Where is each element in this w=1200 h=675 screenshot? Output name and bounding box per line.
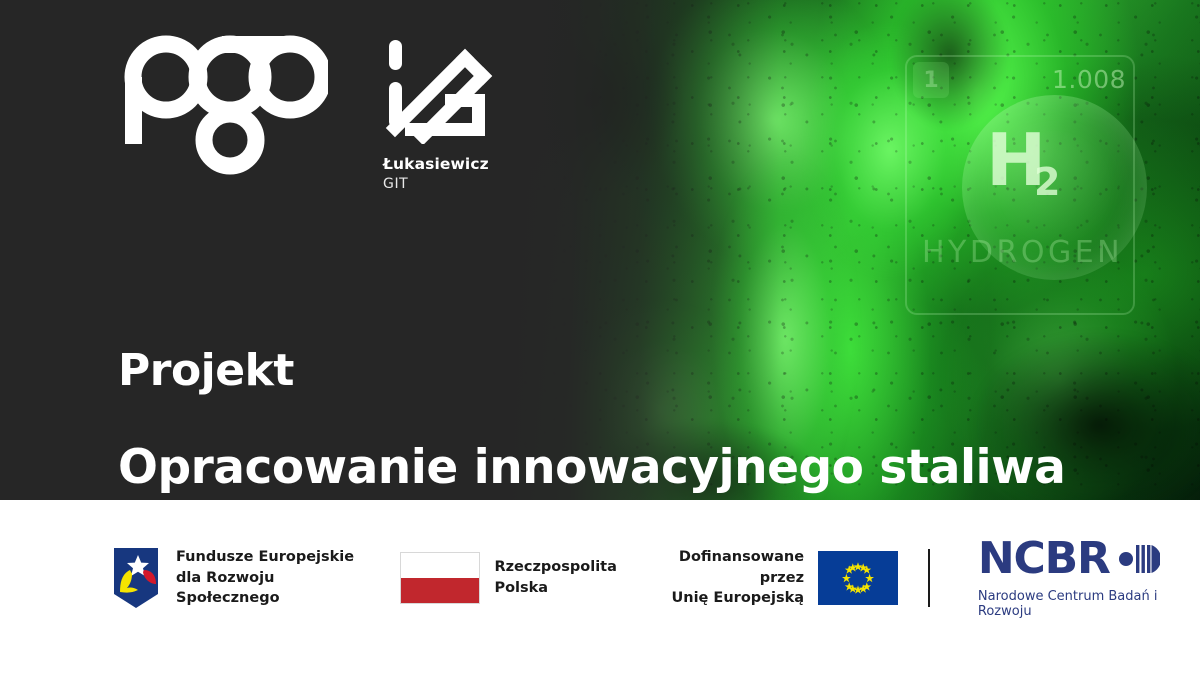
funding-logos-row: Fundusze Europejskie dla Rozwoju Społecz… [0, 538, 1200, 618]
funding-logo-dofinansowane-przez-ue[interactable]: Dofinansowane przez Unię Europejską [647, 547, 898, 609]
footer-divider [928, 549, 930, 607]
hydrogen-subscript: 2 [1034, 160, 1060, 204]
funding-label-rzeczpospolita-polska: Rzeczpospolita Polska [494, 557, 616, 598]
funding-label-fundusze-europejskie: Fundusze Europejskie dla Rozwoju Społecz… [176, 547, 365, 609]
headline-line-2: Opracowanie innowacyjnego staliwa [118, 442, 1065, 494]
lukasiewicz-logo[interactable]: Łukasiewicz GIT [383, 36, 495, 192]
pgo-logo[interactable] [118, 30, 328, 180]
eu-flag-icon [818, 551, 898, 605]
hydrogen-atomic-number: 1 [913, 62, 949, 98]
ncbr-tagline: Narodowe Centrum Badań i Rozwoju [978, 589, 1200, 619]
hero-panel: 1 1.008 H 2 HYDROGEN [0, 0, 1200, 500]
funding-logo-fundusze-europejskie[interactable]: Fundusze Europejskie dla Rozwoju Społecz… [110, 546, 365, 610]
hydrogen-atomic-mass: 1.008 [1052, 65, 1126, 94]
headline-line-1: Projekt [118, 347, 1065, 395]
ncbr-glyph-icon [1118, 542, 1160, 576]
lukasiewicz-unit: GIT [383, 176, 495, 192]
eu-funds-emblem-icon [110, 546, 162, 610]
ncbr-wordmark: NCBR [978, 537, 1110, 581]
slide-canvas: 1 1.008 H 2 HYDROGEN [0, 0, 1200, 675]
page-title: Projekt Opracowanie innowacyjnego staliw… [118, 312, 1065, 500]
hydrogen-element-name: HYDROGEN [922, 235, 1123, 270]
poland-flag-icon [400, 552, 480, 604]
lukasiewicz-name: Łukasiewicz [383, 155, 495, 173]
footer-bar: Fundusze Europejskie dla Rozwoju Społecz… [0, 500, 1200, 675]
funding-label-dofinansowane-przez-ue: Dofinansowane przez Unię Europejską [647, 547, 804, 609]
funding-logo-ncbr[interactable]: NCBR Narodowe Centrum Badań i Rozwoju [978, 537, 1200, 619]
ncbr-mark: NCBR [978, 537, 1160, 581]
funding-logo-rzeczpospolita-polska[interactable]: Rzeczpospolita Polska [400, 552, 616, 604]
